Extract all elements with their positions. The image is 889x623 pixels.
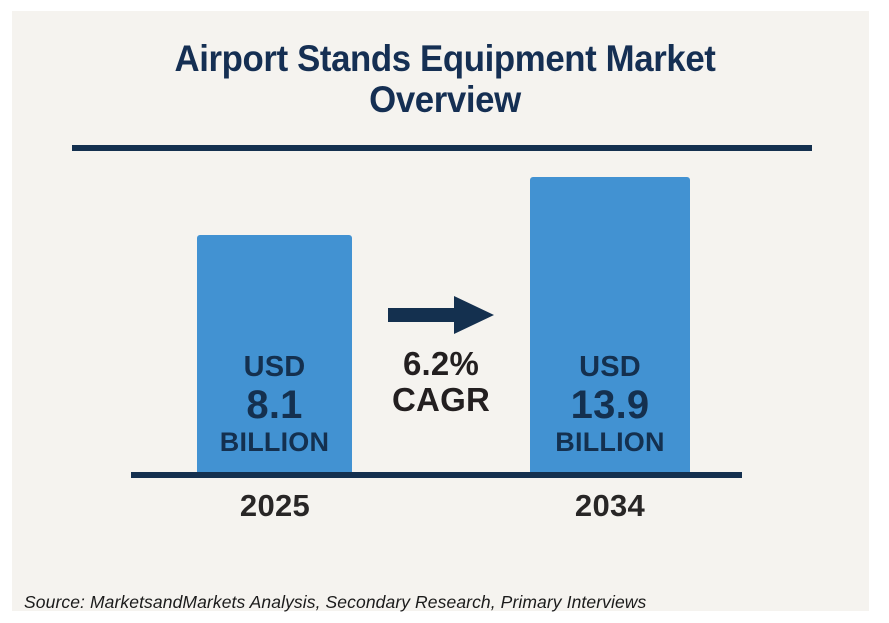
bar-2025[interactable]: USD 8.1 BILLION xyxy=(197,235,352,475)
bar-2025-label: USD 8.1 BILLION xyxy=(197,352,352,457)
cagr-value: 6.2% xyxy=(370,346,512,382)
x-axis-line xyxy=(131,472,742,478)
bar-2025-currency: USD xyxy=(197,352,352,383)
bar-2034-currency: USD xyxy=(530,352,690,383)
arrow-right-icon xyxy=(388,296,494,334)
bar-2025-value: 8.1 xyxy=(197,383,352,428)
bar-chart-plot: USD 8.1 BILLION USD 13.9 BILLION 6.2% CA… xyxy=(0,0,889,623)
bar-2034-unit: BILLION xyxy=(530,428,690,457)
cagr-annotation: 6.2% CAGR xyxy=(370,296,512,419)
bar-2034-label: USD 13.9 BILLION xyxy=(530,352,690,457)
source-note: Source: MarketsandMarkets Analysis, Seco… xyxy=(24,592,646,613)
x-axis-tick-2025: 2025 xyxy=(195,488,355,524)
cagr-text: 6.2% CAGR xyxy=(370,346,512,419)
bar-2025-unit: BILLION xyxy=(197,428,352,457)
chart-canvas: Airport Stands Equipment Market Overview… xyxy=(0,0,889,623)
bar-2034-value: 13.9 xyxy=(530,383,690,428)
cagr-unit: CAGR xyxy=(370,382,512,418)
x-axis-tick-2034: 2034 xyxy=(530,488,690,524)
bar-2034[interactable]: USD 13.9 BILLION xyxy=(530,177,690,475)
